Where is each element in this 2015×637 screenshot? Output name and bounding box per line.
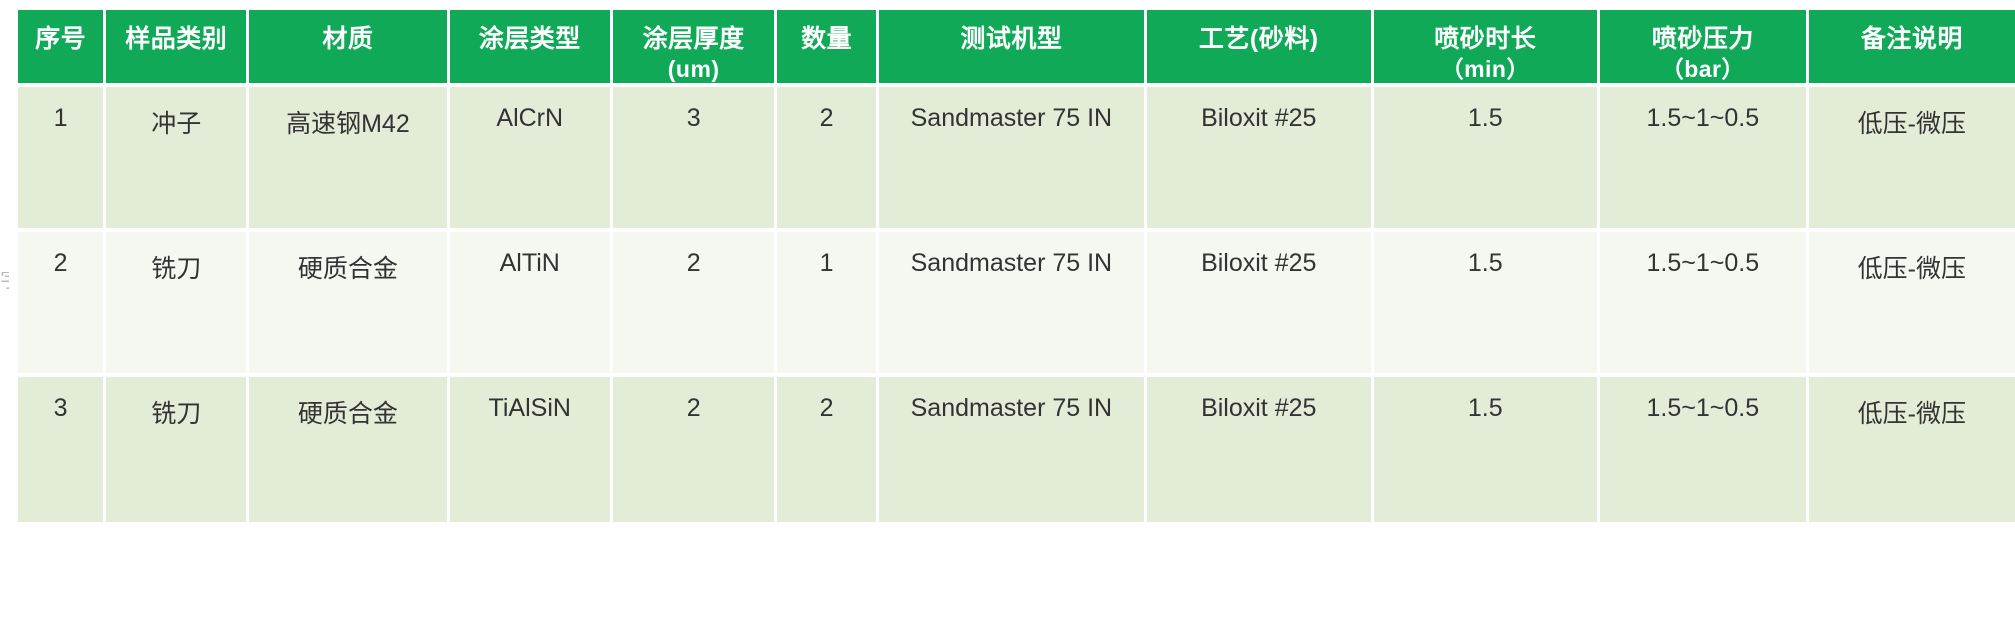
column-header-label: 涂层类型 — [479, 25, 581, 53]
cell-pressure: 1.5~1~0.5 — [1600, 377, 1809, 522]
table-body: 1冲子高速钢M42AlCrN32Sandmaster 75 INBiloxit … — [18, 87, 2015, 522]
column-header-thickness[interactable]: 涂层厚度(um) — [613, 10, 778, 87]
cell-material: 高速钢M42 — [249, 87, 449, 232]
sample-test-table: 序号样品类别材质涂层类型涂层厚度(um)数量测试机型工艺(砂料)喷砂时长（min… — [18, 10, 2015, 522]
table-row[interactable]: 1冲子高速钢M42AlCrN32Sandmaster 75 INBiloxit … — [18, 87, 2015, 232]
column-header-seq[interactable]: 序号 — [18, 10, 106, 87]
column-header-label: 样品类别 — [125, 25, 227, 53]
column-header-label: 喷砂时长 — [1434, 25, 1536, 53]
cell-pressure: 1.5~1~0.5 — [1600, 232, 1809, 377]
column-header-coating[interactable]: 涂层类型 — [450, 10, 613, 87]
column-header-category[interactable]: 样品类别 — [106, 10, 249, 87]
cell-remark: 低压-微压 — [1809, 87, 2015, 232]
cell-category: 铣刀 — [106, 232, 249, 377]
column-header-label: 工艺(砂料) — [1199, 25, 1319, 53]
cell-remark: 低压-微压 — [1809, 377, 2015, 522]
cell-quantity: 1 — [777, 232, 878, 377]
column-header-label: 测试机型 — [960, 25, 1062, 53]
column-header-pressure[interactable]: 喷砂压力（bar） — [1600, 10, 1809, 87]
cell-process: Biloxit #25 — [1147, 87, 1374, 232]
column-header-label: 喷砂压力 — [1652, 25, 1754, 53]
cell-coating: AlCrN — [450, 87, 613, 232]
cell-quantity: 2 — [777, 87, 878, 232]
cell-seq: 3 — [18, 377, 106, 522]
cell-machine: Sandmaster 75 IN — [879, 377, 1147, 522]
cell-quantity: 2 — [777, 377, 878, 522]
column-header-machine[interactable]: 测试机型 — [879, 10, 1147, 87]
cell-thickness: 2 — [613, 232, 778, 377]
cell-material: 硬质合金 — [249, 232, 449, 377]
cell-process: Biloxit #25 — [1147, 377, 1374, 522]
cell-seq: 2 — [18, 232, 106, 377]
column-header-quantity[interactable]: 数量 — [777, 10, 878, 87]
table-header-row: 序号样品类别材质涂层类型涂层厚度(um)数量测试机型工艺(砂料)喷砂时长（min… — [18, 10, 2015, 87]
cell-machine: Sandmaster 75 IN — [879, 87, 1147, 232]
column-header-label: 材质 — [322, 25, 373, 53]
column-header-duration[interactable]: 喷砂时长（min） — [1374, 10, 1601, 87]
table-row[interactable]: 3铣刀硬质合金TiAlSiN22Sandmaster 75 INBiloxit … — [18, 377, 2015, 522]
cell-duration: 1.5 — [1374, 87, 1601, 232]
table-container: 字 序号样品类别材质涂层类型涂层厚度(um)数量测试机型工艺(砂料)喷砂时长（m… — [0, 0, 2015, 637]
cell-machine: Sandmaster 75 IN — [879, 232, 1147, 377]
cell-thickness: 3 — [613, 87, 778, 232]
table-row[interactable]: 2铣刀硬质合金AlTiN21Sandmaster 75 INBiloxit #2… — [18, 232, 2015, 377]
clipped-edge-text-artifact: 字 — [0, 272, 9, 306]
cell-category: 冲子 — [106, 87, 249, 232]
cell-thickness: 2 — [613, 377, 778, 522]
column-header-unit: （min） — [1376, 55, 1596, 83]
column-header-label: 涂层厚度 — [643, 25, 745, 53]
cell-process: Biloxit #25 — [1147, 232, 1374, 377]
column-header-remark[interactable]: 备注说明 — [1809, 10, 2015, 87]
cell-coating: TiAlSiN — [450, 377, 613, 522]
table-header: 序号样品类别材质涂层类型涂层厚度(um)数量测试机型工艺(砂料)喷砂时长（min… — [18, 10, 2015, 87]
column-header-process[interactable]: 工艺(砂料) — [1147, 10, 1374, 87]
cell-category: 铣刀 — [106, 377, 249, 522]
column-header-label: 备注说明 — [1861, 25, 1963, 53]
cell-material: 硬质合金 — [249, 377, 449, 522]
cell-coating: AlTiN — [450, 232, 613, 377]
column-header-label: 数量 — [801, 25, 852, 53]
cell-pressure: 1.5~1~0.5 — [1600, 87, 1809, 232]
column-header-label: 序号 — [35, 25, 86, 53]
cell-duration: 1.5 — [1374, 377, 1601, 522]
column-header-unit: （bar） — [1602, 55, 1804, 83]
cell-duration: 1.5 — [1374, 232, 1601, 377]
cell-remark: 低压-微压 — [1809, 232, 2015, 377]
column-header-material[interactable]: 材质 — [249, 10, 449, 87]
column-header-unit: (um) — [615, 55, 773, 83]
cell-seq: 1 — [18, 87, 106, 232]
